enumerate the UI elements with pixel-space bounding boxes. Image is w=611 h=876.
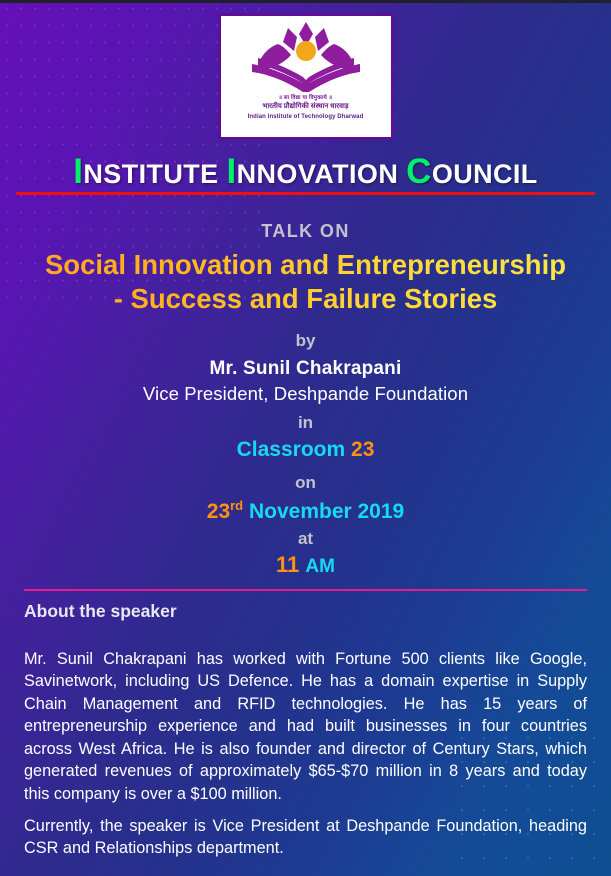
time-line: 11 AM (0, 552, 611, 578)
in-label: in (0, 413, 611, 433)
date-day: 23rd (207, 500, 243, 523)
about-speaker-heading: About the speaker (24, 601, 177, 622)
iit-dharwad-lotus-book-icon (248, 20, 364, 94)
about-paragraph-1: Mr. Sunil Chakrapani has worked with For… (24, 648, 587, 805)
pink-divider (24, 589, 587, 591)
by-label: by (0, 331, 611, 351)
title-rest-institute: NSTITUTE (83, 159, 218, 189)
on-label: on (0, 473, 611, 493)
event-poster: ॥ सा विद्या या विमुक्तये ॥ भारतीय प्रौद्… (0, 0, 611, 876)
date-line: 23rd November 2019 (0, 498, 611, 524)
title-rest-innovation: NNOVATION (237, 159, 399, 189)
time-meridiem: AM (305, 556, 335, 577)
title-cap-i2: I (227, 152, 237, 191)
title-space-1 (219, 159, 227, 189)
speaker-role: Vice President, Deshpande Foundation (0, 383, 611, 405)
logo-name-hindi: भारतीय प्रौद्योगिकी संस्थान धारवाड़ (262, 103, 348, 111)
title-rest-council: OUNCIL (432, 159, 538, 189)
date-ordinal-suffix: rd (230, 498, 243, 513)
venue-line: Classroom 23 (0, 438, 611, 462)
speaker-name: Mr. Sunil Chakrapani (0, 358, 611, 380)
logo-motto-hindi: ॥ सा विद्या या विमुक्तये ॥ (279, 95, 333, 101)
talk-on-label: TALK ON (0, 221, 611, 242)
date-month-year: November 2019 (249, 500, 404, 523)
talk-title-line-1: Social Innovation and Entrepreneurship (45, 249, 566, 280)
red-divider (16, 192, 595, 195)
about-paragraph-2: Currently, the speaker is Vice President… (24, 815, 587, 860)
title-cap-i1: I (73, 152, 83, 191)
institute-logo-card: ॥ सा विद्या या विमुक्तये ॥ भारतीय प्रौद्… (218, 13, 394, 140)
at-label: at (0, 529, 611, 549)
venue-word: Classroom (237, 438, 346, 461)
time-number: 11 (276, 552, 299, 577)
top-edge-strip (0, 0, 611, 3)
page-title: INSTITUTE INNOVATION COUNCIL (0, 152, 611, 192)
talk-title-line-2: - Success and Failure Stories (0, 282, 611, 316)
venue-number: 23 (351, 438, 374, 461)
logo-name-english: Indian Institute of Technology Dharwad (248, 114, 364, 120)
date-day-number: 23 (207, 500, 230, 523)
title-space-2 (398, 159, 406, 189)
talk-title: Social Innovation and Entrepreneurship -… (0, 248, 611, 315)
title-cap-c: C (406, 152, 432, 191)
